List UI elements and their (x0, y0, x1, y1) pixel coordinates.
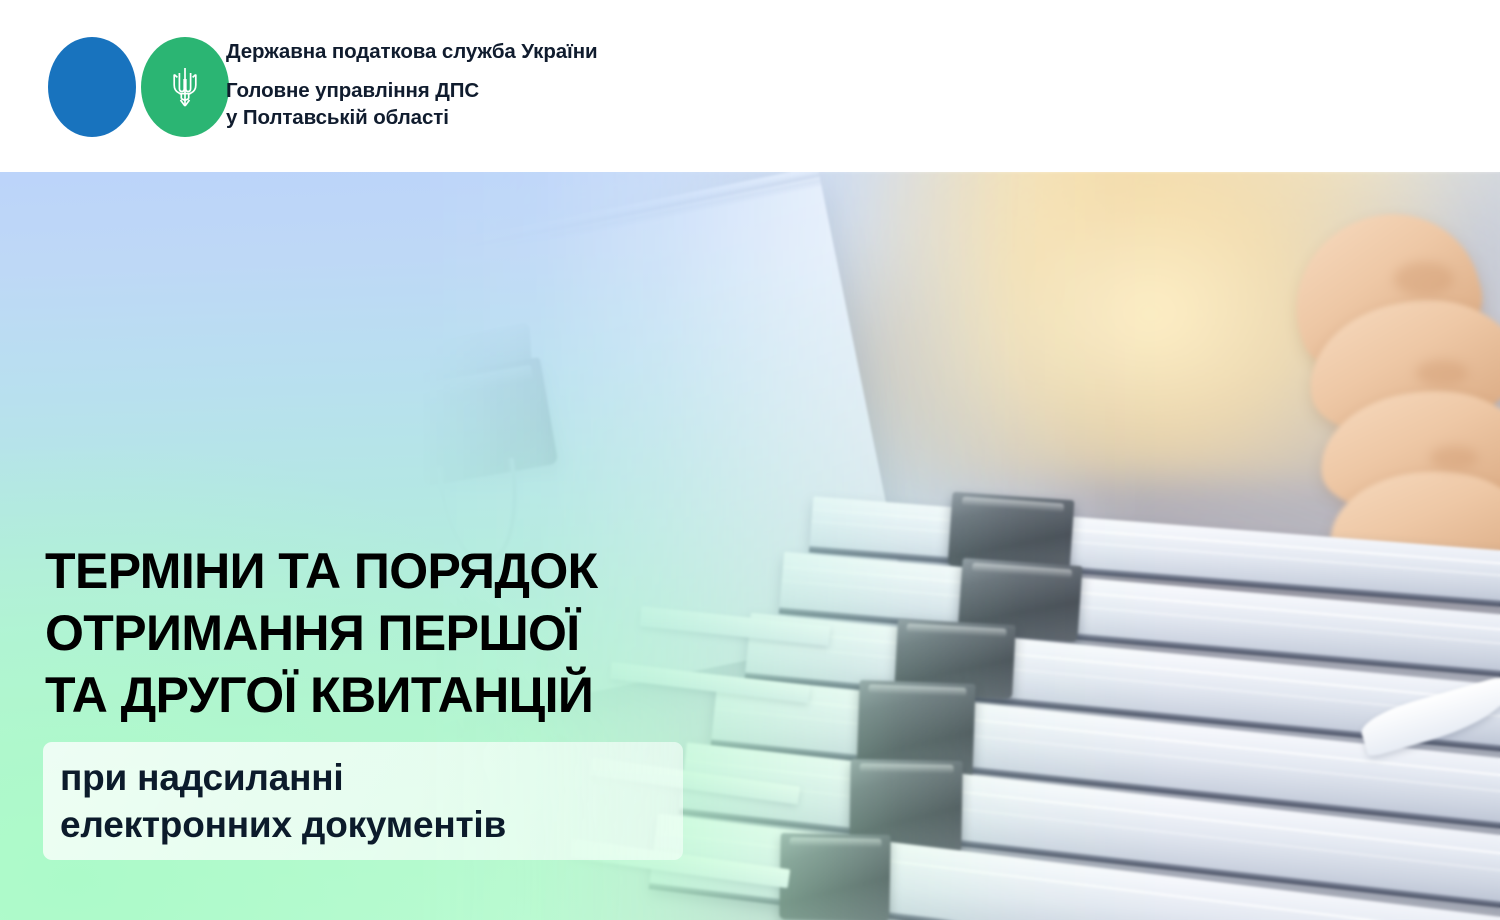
headline-line-2: ОТРИМАННЯ ПЕРШОЇ (45, 602, 598, 664)
header-bar: Державна податкова служба України Головн… (0, 0, 1500, 172)
dps-logo (48, 37, 208, 137)
organization-name: Державна податкова служба України Головн… (226, 40, 598, 131)
hero-copy: ТЕРМІНИ ТА ПОРЯДОК ОТРИМАННЯ ПЕРШОЇ ТА Д… (0, 344, 760, 920)
org-line-region: у Полтавській області (226, 104, 598, 131)
subtitle-line-1: при надсиланні (43, 754, 683, 801)
page-title: ТЕРМІНИ ТА ПОРЯДОК ОТРИМАННЯ ПЕРШОЇ ТА Д… (45, 540, 598, 726)
dps-logo-circle-green (141, 37, 229, 137)
dps-logo-circle-blue (48, 37, 136, 137)
ukraine-trident-icon (170, 65, 200, 109)
subtitle-panel: при надсиланні електронних документів (43, 742, 683, 860)
subtitle-line-2: електронних документів (43, 801, 683, 848)
banner-root: Державна податкова служба України Головн… (0, 0, 1500, 920)
hero-section: ТЕРМІНИ ТА ПОРЯДОК ОТРИМАННЯ ПЕРШОЇ ТА Д… (0, 172, 1500, 920)
org-line-department: Головне управління ДПС (226, 77, 598, 104)
org-line-agency: Державна податкова служба України (226, 40, 598, 64)
headline-line-3: ТА ДРУГОЇ КВИТАНЦІЙ (45, 664, 598, 726)
headline-line-1: ТЕРМІНИ ТА ПОРЯДОК (45, 540, 598, 602)
